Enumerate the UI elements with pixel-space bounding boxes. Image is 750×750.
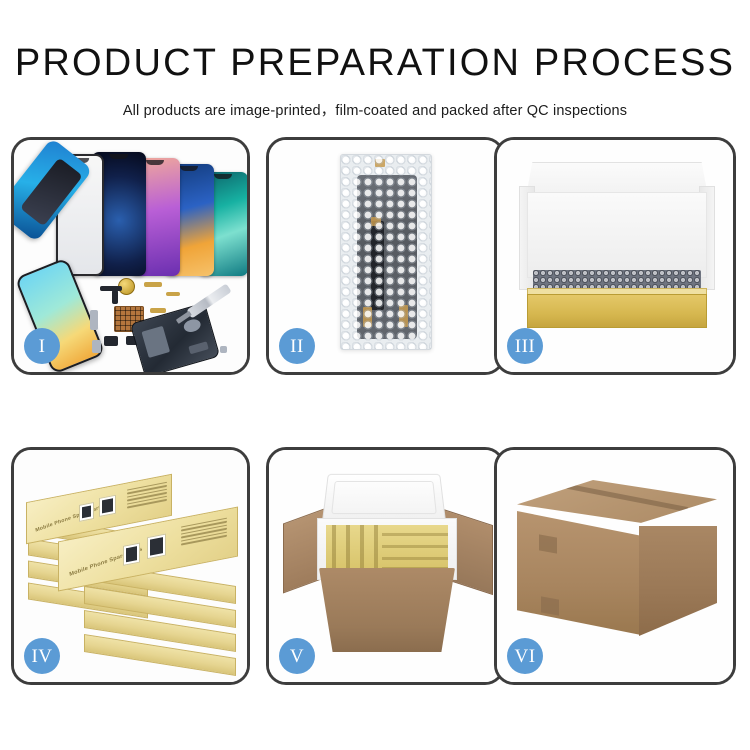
wrapped-flex-cable [371, 221, 384, 310]
packed-box-row-2 [382, 545, 448, 548]
part-sim-tray [92, 340, 101, 353]
panel-bubble-wrap: II [266, 137, 505, 375]
chassis-camera-ring [183, 317, 202, 333]
panel-badge-4: IV [24, 638, 60, 674]
packed-box-row-1 [382, 533, 448, 536]
packed-box-divider-3 [360, 525, 364, 573]
tape-strip-mid [371, 217, 381, 226]
packed-yellow-boxes [326, 525, 448, 573]
part-button-flex [112, 290, 118, 304]
open-shipping-carton [283, 472, 493, 656]
product-preparation-infographic: PRODUCT PREPARATION PROCESS All products… [0, 0, 750, 750]
panel-sealed-carton: VI [494, 447, 736, 685]
part-connector-1 [100, 286, 122, 291]
sealed-shipping-carton [517, 480, 717, 650]
part-screws-loose [220, 346, 227, 353]
carton-left-face [517, 511, 641, 635]
process-row-bottom: Mobile Phone Spare Parts [0, 447, 750, 685]
chassis-battery [141, 325, 170, 357]
foam-lid [322, 474, 446, 523]
panel-badge-2: II [279, 328, 315, 364]
panel-foam-carton: V [266, 447, 505, 685]
process-grid: I [0, 137, 750, 685]
carton-tape-seam [542, 479, 688, 512]
box-art-chip-2b [147, 534, 166, 560]
packed-box-divider-1 [332, 525, 336, 573]
panel-badge-5: V [279, 638, 315, 674]
panel-open-inner-box: III [494, 137, 736, 375]
carton-body [319, 568, 455, 652]
box-base-front [527, 294, 707, 328]
page-subtitle: All products are image-printed，film-coat… [0, 99, 750, 120]
carton-tape-patch-upper [539, 534, 557, 553]
part-flex-cable-2 [166, 292, 180, 296]
tape-strip-bottom-left [363, 307, 372, 327]
chassis-board [188, 341, 209, 355]
panel-boxed-stack: Mobile Phone Spare Parts [11, 447, 250, 685]
packed-box-divider-2 [346, 525, 350, 573]
packed-box-divider-4 [374, 525, 378, 573]
process-row-top: I [0, 137, 750, 375]
panel-badge-3: III [507, 328, 543, 364]
screwdriver-icon [186, 283, 231, 318]
panel-badge-1: I [24, 328, 60, 364]
panel-badge-6: VI [507, 638, 543, 674]
panel-phone-parts: I [11, 137, 250, 375]
tape-strip-top [375, 159, 385, 167]
bubble-wrap-bag [340, 154, 432, 350]
box-inner-white [527, 192, 707, 278]
yellow-box-stack: Mobile Phone Spare Parts [22, 466, 244, 674]
box-art-chip-1b [99, 495, 116, 517]
packed-box-row-3 [382, 557, 448, 560]
carton-tape-patch-lower [541, 596, 559, 615]
open-yellow-box [519, 162, 715, 338]
part-bracket-1 [90, 310, 98, 330]
box-art-chip-1a [79, 502, 94, 522]
part-speaker [104, 336, 118, 346]
header: PRODUCT PREPARATION PROCESS All products… [0, 0, 750, 120]
tape-strip-bottom-right [399, 305, 408, 327]
page-title: PRODUCT PREPARATION PROCESS [0, 44, 750, 82]
part-flex-cable-1 [144, 282, 162, 287]
box-art-chip-2a [123, 543, 140, 566]
carton-right-face [639, 526, 717, 636]
part-flex-cable-3 [150, 308, 166, 313]
box-spec-lines-2 [181, 518, 227, 548]
box-spec-lines-1 [127, 482, 167, 511]
foam-lid-rim [331, 481, 437, 514]
